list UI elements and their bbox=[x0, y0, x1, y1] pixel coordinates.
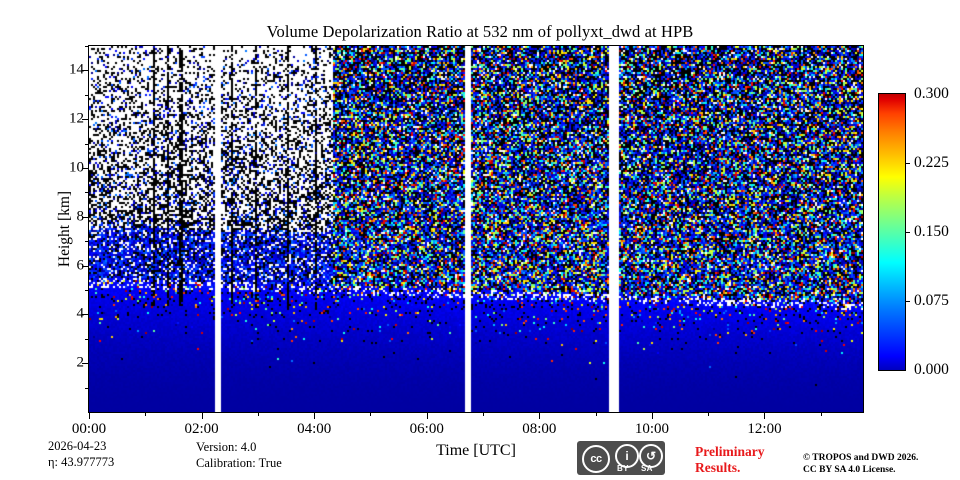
preliminary-line-1: Preliminary bbox=[695, 444, 795, 460]
page-title: Volume Depolarization Ratio at 532 nm of… bbox=[0, 22, 960, 42]
copyright-notice: © TROPOS and DWD 2026. CC BY SA 4.0 Lice… bbox=[803, 452, 918, 476]
y-tick-label: 2 bbox=[77, 355, 85, 372]
y-tick-label: 4 bbox=[77, 306, 85, 323]
quicklook-figure: Volume Depolarization Ratio at 532 nm of… bbox=[0, 0, 960, 480]
footer-eta: η: 43.977773 bbox=[48, 455, 114, 470]
x-tick bbox=[314, 412, 315, 419]
y-tick-minor bbox=[85, 144, 89, 145]
preliminary-line-2: Results. bbox=[695, 460, 795, 476]
y-tick-minor bbox=[85, 241, 89, 242]
x-tick bbox=[427, 412, 428, 419]
y-tick-minor bbox=[85, 339, 89, 340]
x-tick-label: 04:00 bbox=[297, 421, 331, 438]
x-tick-minor bbox=[370, 412, 371, 416]
colorbar-tick-label: 0.150 bbox=[914, 223, 949, 241]
footer-version: Version: 4.0 bbox=[196, 440, 256, 455]
x-tick bbox=[764, 412, 765, 419]
y-tick-label: 10 bbox=[69, 160, 84, 177]
x-tick-label: 06:00 bbox=[410, 421, 444, 438]
cc-license-badge[interactable]: cc i ↺ BY SA bbox=[577, 441, 665, 475]
x-tick-label: 10:00 bbox=[635, 421, 669, 438]
copyright-line-2: CC BY SA 4.0 License. bbox=[803, 464, 918, 476]
colorbar-tick-label: 0.075 bbox=[914, 292, 949, 310]
x-tick-minor bbox=[821, 412, 822, 416]
colorbar-tick bbox=[905, 163, 910, 164]
y-tick-label: 8 bbox=[77, 208, 85, 225]
y-tick-minor bbox=[85, 192, 89, 193]
colorbar-tick bbox=[905, 232, 910, 233]
colorbar-tick-label: 0.000 bbox=[914, 361, 949, 379]
x-tick-minor bbox=[596, 412, 597, 416]
copyright-line-1: © TROPOS and DWD 2026. bbox=[803, 452, 918, 464]
preliminary-results-notice: Preliminary Results. bbox=[695, 444, 795, 476]
y-tick-label: 14 bbox=[69, 62, 84, 79]
x-tick-label: 00:00 bbox=[72, 421, 106, 438]
cc-sa-caption: SA bbox=[641, 464, 653, 473]
colorbar-tick bbox=[905, 301, 910, 302]
y-tick-label: 12 bbox=[69, 111, 84, 128]
plot-area[interactable]: Height [km] Time [UTC] 246810121400:0002… bbox=[88, 45, 864, 413]
y-axis-label: Height [km] bbox=[56, 191, 74, 267]
x-tick bbox=[89, 412, 90, 419]
heatmap-canvas bbox=[89, 46, 863, 412]
footer-date: 2026-04-23 bbox=[48, 439, 106, 454]
cc-icon: cc bbox=[582, 445, 610, 473]
colorbar: 0.0000.0750.1500.2250.300 bbox=[878, 93, 906, 371]
x-tick-label: 08:00 bbox=[522, 421, 556, 438]
x-tick-minor bbox=[708, 412, 709, 416]
y-tick-minor bbox=[85, 388, 89, 389]
colorbar-tick-label: 0.225 bbox=[914, 154, 949, 172]
x-tick-label: 02:00 bbox=[184, 421, 218, 438]
y-tick-minor bbox=[85, 46, 89, 47]
x-tick-minor bbox=[258, 412, 259, 416]
footer-calibration: Calibration: True bbox=[196, 456, 282, 471]
x-tick bbox=[652, 412, 653, 419]
x-tick-minor bbox=[145, 412, 146, 416]
x-tick bbox=[202, 412, 203, 419]
x-tick-label: 12:00 bbox=[747, 421, 781, 438]
x-tick-minor bbox=[483, 412, 484, 416]
x-tick bbox=[539, 412, 540, 419]
cc-by-caption: BY bbox=[617, 464, 629, 473]
colorbar-tick-label: 0.300 bbox=[914, 85, 949, 103]
y-tick-label: 6 bbox=[77, 257, 85, 274]
y-tick-minor bbox=[85, 95, 89, 96]
y-tick-minor bbox=[85, 290, 89, 291]
